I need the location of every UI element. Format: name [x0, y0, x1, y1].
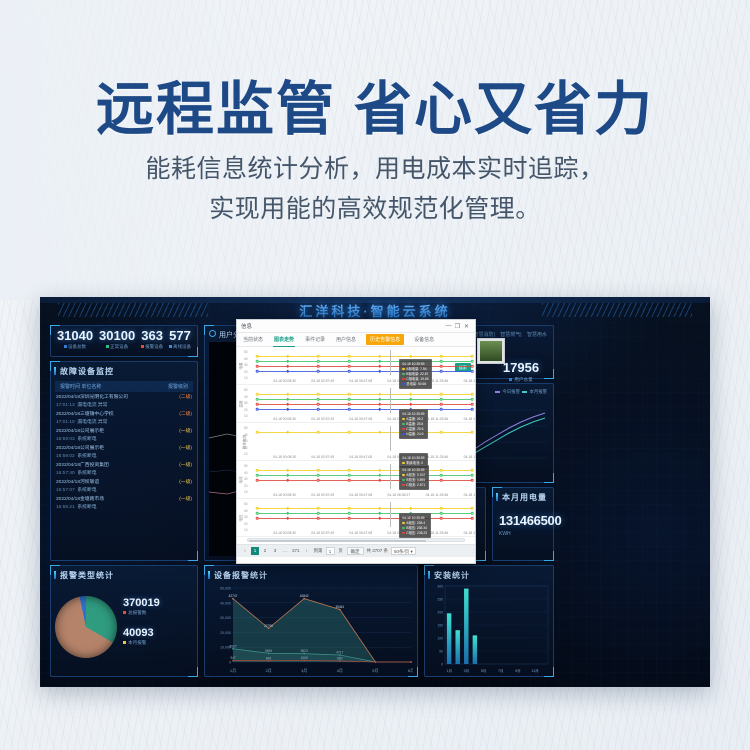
x-tick: 04-18 11:25:46 — [426, 417, 449, 421]
plot-area — [257, 426, 472, 451]
fault-detail: 16:57:40 系统断电 — [56, 469, 192, 476]
x-tick: 04-18 00:08:30 — [273, 417, 296, 421]
x-tick: 04-18 02:57:49 — [311, 417, 334, 421]
y-tick: 10 — [244, 490, 248, 494]
status-badge: (一级) — [179, 427, 192, 434]
svg-text:20,000: 20,000 — [220, 631, 231, 635]
tooltip-time: 04-18 10:35:59 — [402, 516, 427, 521]
svg-text:150: 150 — [437, 623, 443, 627]
svg-text:1月: 1月 — [230, 668, 236, 673]
tab-4[interactable]: 历史告警信息 — [366, 334, 404, 345]
chart-row-4[interactable]: 电压504030201004-18 00:08:3004-18 02:57:49… — [237, 499, 475, 537]
x-tick: 04-18 17:04:25 — [464, 531, 475, 535]
fault-detail: 16:59:02 系统断电 — [56, 452, 192, 459]
svg-text:3月: 3月 — [301, 668, 307, 673]
pagination-page-...[interactable]: ... — [281, 547, 289, 555]
y-tick: 20 — [244, 370, 248, 374]
device-alarm-chart: 010,00020,00030,00040,00050,000427472279… — [211, 582, 411, 672]
dashboard-title: 汇洋科技·智能云系统 — [299, 301, 450, 320]
svg-text:7月: 7月 — [498, 668, 504, 673]
table-row[interactable]: 2022/04/18金塘路市场(一级)16:55:21 系统断电 — [51, 494, 197, 511]
svg-text:6月: 6月 — [408, 668, 413, 673]
y-tick: 10 — [244, 376, 248, 380]
alarm-month-value: 40093 — [123, 627, 197, 639]
x-tick: 04-18 11:25:46 — [426, 455, 449, 459]
x-tick: 04-18 05:47:08 — [349, 417, 372, 421]
y-tick: 30 — [244, 515, 248, 519]
svg-text:50,000: 50,000 — [220, 587, 231, 591]
install-stat-chart: 0501001502002503001月3月5月7月9月11月 — [429, 582, 549, 673]
fault-time-name: 2022/04/18河坝联谊 — [56, 478, 99, 485]
x-tick: 04-18 00:08:30 — [273, 455, 296, 459]
dialog-titlebar[interactable]: 信息 — ❐ ✕ — [237, 320, 475, 333]
dialog-title: 信息 — [241, 322, 444, 330]
y-tick: 20 — [244, 522, 248, 526]
fault-time-name: 2022/04/18深圳光明化工有限公司 — [56, 393, 128, 400]
alarm-total-label: 总报警数 — [123, 610, 197, 616]
y-tick: 50 — [244, 426, 248, 430]
column-time-name: 报警时间 单位名称 — [60, 383, 154, 390]
fault-time-name: 2022/04/18公司展示柜 — [56, 427, 104, 434]
svg-text:1月: 1月 — [446, 668, 452, 673]
status-badge: (一级) — [179, 478, 192, 485]
x-tick: 04-18 00:08:30 — [273, 531, 296, 535]
chart-cursor — [390, 426, 391, 451]
chart-cursor — [390, 464, 391, 489]
y-tick: 40 — [244, 471, 248, 475]
status-badge: (一级) — [179, 461, 192, 468]
pagination-page-unit[interactable]: 页 — [337, 547, 345, 555]
column-level: 报警级别 — [154, 383, 188, 390]
chart-cursor — [390, 502, 391, 527]
subtitle-line-2: 实现用能的高效规范化管理。 — [0, 190, 750, 230]
y-tick: 40 — [244, 509, 248, 513]
svg-text:30,000: 30,000 — [220, 616, 231, 620]
chart-tooltip-1: 04-18 10:35:59A温度: 26.2B温度: 25.8C温度: 25.… — [399, 409, 428, 439]
month-power-panel: 本月用电量 131466500 KWH — [492, 487, 554, 561]
svg-text:1005: 1005 — [301, 656, 308, 660]
chart-row-0[interactable]: 电量504030201004-18 00:08:3004-18 02:57:49… — [237, 347, 475, 385]
stat-normal-devices: 30100 正常设备 — [99, 329, 135, 350]
y-tick: 50 — [244, 464, 248, 468]
stat-value: 577 — [169, 329, 191, 343]
x-tick: 04-18 02:57:49 — [311, 531, 334, 535]
table-row[interactable]: 2022/04/18公司展示柜(一级)16:59:03 系统断电 — [51, 426, 197, 443]
chart-tooltip-3: 04-18 10:35:59A相流: 0.102B相流: 0.895C相流: 2… — [399, 465, 429, 490]
stat-label: 报警设备 — [141, 344, 163, 350]
fault-panel-title: 故障设备监控 — [51, 362, 197, 379]
y-tick: 30 — [244, 363, 248, 367]
status-badge: (二级) — [179, 393, 192, 400]
page-subtitle: 能耗信息统计分析，用电成本实时追踪， 实现用能的高效规范化管理。 — [0, 150, 750, 229]
svg-text:0: 0 — [441, 662, 443, 666]
svg-text:50: 50 — [439, 649, 443, 653]
chart-row-3[interactable]: 电流504030201004-18 00:08:3004-18 02:57:49… — [237, 461, 475, 499]
table-row[interactable]: 2022/04/18广西投资集团(一级)16:57:40 系统断电 — [51, 460, 197, 477]
y-tick: 30 — [244, 401, 248, 405]
close-icon[interactable]: ✕ — [462, 323, 471, 330]
stats-strip-panel: 31040 设备总数 30100 正常设备 363 报警设备 577 离线设备 — [50, 325, 198, 357]
tooltip-time: 04-18 10:35:59 — [402, 456, 424, 461]
pagination-prev[interactable]: ‹ — [241, 547, 249, 555]
info-dialog[interactable]: 信息 — ❐ ✕ 当前状态图表走势事件记录用户信息历史告警信息设备信息 搜索 电… — [236, 319, 476, 564]
y-tick: 40 — [244, 395, 248, 399]
y-tick: 10 — [244, 528, 248, 532]
y-tick: 20 — [244, 484, 248, 488]
subtitle-line-1: 能耗信息统计分析，用电成本实时追踪， — [0, 150, 750, 190]
svg-text:22790: 22790 — [264, 624, 273, 628]
fault-device-panel: 故障设备监控 报警时间 单位名称 报警级别 2022/04/18深圳光明化工有限… — [50, 361, 198, 561]
svg-text:5623: 5623 — [301, 649, 308, 653]
device-alarm-stat-panel: 设备报警统计 010,00020,00030,00040,00050,00042… — [204, 565, 418, 677]
x-tick: 04-18 17:04:25 — [464, 417, 475, 421]
alarm-type-legend: 370019 总报警数 40093 本月报警 — [117, 597, 197, 657]
dialog-tabs[interactable]: 当前状态图表走势事件记录用户信息历史告警信息设备信息 — [237, 333, 475, 347]
pagination-goto-label[interactable]: 到第 — [313, 547, 324, 555]
fault-detail: 17:01:10 漏电电流 异常 — [56, 418, 192, 425]
fault-detail: 16:55:21 系统断电 — [56, 503, 192, 510]
stat-value: 31040 — [57, 329, 93, 343]
x-tick: 04-18 02:57:49 — [311, 493, 334, 497]
tab-5[interactable]: 设备信息 — [413, 333, 435, 346]
table-row[interactable]: 2022/04/18河坝联谊(一级)16:57:07 系统断电 — [51, 477, 197, 494]
pagination-page-2[interactable]: 2 — [261, 547, 269, 555]
stats-row: 31040 设备总数 30100 正常设备 363 报警设备 577 离线设备 — [51, 326, 197, 350]
fault-time-name: 2022/04/18金塘路市场 — [56, 495, 104, 502]
chart-cursor — [390, 388, 391, 413]
alarm-type-body: 370019 总报警数 40093 本月报警 — [51, 583, 197, 671]
stat-total-devices: 31040 设备总数 — [57, 329, 93, 350]
svg-text:9月: 9月 — [515, 668, 521, 673]
tooltip-row: 总电量: 50.66 — [402, 382, 428, 387]
plot-area — [257, 502, 472, 527]
svg-text:5月: 5月 — [481, 668, 487, 673]
y-tick: 30 — [244, 477, 248, 481]
x-tick: 04-18 05:47:08 — [349, 531, 372, 535]
svg-text:35461: 35461 — [335, 605, 344, 609]
x-tick: 04-18 17:04:25 — [464, 455, 475, 459]
tooltip-time: 04-18 10:35:59 — [402, 468, 425, 473]
svg-text:100: 100 — [437, 636, 443, 640]
install-stat-panel: 安装统计 0501001502002503001月3月5月7月9月11月 — [424, 565, 554, 677]
fault-time-name: 2022/04/18三塘镇中心学校 — [56, 410, 114, 417]
pagination-goto-input[interactable]: 1 — [326, 547, 335, 555]
y-tick: 10 — [244, 452, 248, 456]
svg-text:660: 660 — [337, 657, 343, 661]
alarm-month-label: 本月报警 — [123, 640, 197, 646]
alarm-type-panel: 报警类型统计 370019 总报警数 40093 本月报警 — [50, 565, 198, 677]
svg-text:0: 0 — [229, 661, 231, 665]
y-tick: 20 — [244, 446, 248, 450]
svg-text:250: 250 — [437, 597, 443, 601]
tab-2[interactable]: 事件记录 — [304, 333, 326, 346]
y-tick: 10 — [244, 414, 248, 418]
status-badge: (一级) — [179, 495, 192, 502]
x-tick: 04-18 02:57:49 — [311, 379, 334, 383]
install-stat-title: 安装统计 — [425, 566, 553, 583]
device-alarm-title: 设备报警统计 — [205, 566, 417, 583]
svg-text:4月: 4月 — [337, 668, 343, 673]
status-badge: (一级) — [179, 444, 192, 451]
stat-value: 363 — [141, 329, 163, 343]
x-tick: 04-18 00:08:30 — [273, 379, 296, 383]
chart-tooltip-0: 04-18 10:35:59A相电量: 7.94B相电量: 22.87C相电量:… — [399, 359, 432, 389]
y-tick: 40 — [244, 357, 248, 361]
tooltip-row: N温度: 24.9 — [402, 432, 424, 437]
svg-text:42747: 42747 — [229, 594, 238, 598]
svg-text:300: 300 — [437, 584, 443, 588]
y-tick: 30 — [244, 439, 248, 443]
horizontal-scrollbar[interactable] — [247, 538, 465, 542]
fault-time-name: 2022/04/18公司展示柜 — [56, 444, 104, 451]
fault-detail: 17:01:13 漏电电流 异常 — [56, 401, 192, 408]
alarm-type-title: 报警类型统计 — [51, 566, 197, 583]
plot-area — [257, 464, 472, 489]
pagination-total[interactable]: 共 3707 条 — [366, 547, 390, 555]
device-thumbnail — [477, 338, 505, 364]
chart-cursor — [390, 350, 391, 375]
area-chart-svg: 010,00020,00030,00040,00050,000427472279… — [211, 582, 413, 674]
svg-text:5894: 5894 — [265, 649, 272, 653]
page-title: 远程监管 省心又省力 — [0, 62, 750, 146]
plot-area — [257, 388, 472, 413]
month-power-unit: KWH — [493, 531, 553, 537]
fault-detail: 16:57:07 系统断电 — [56, 486, 192, 493]
pagination-page-371[interactable]: 371 — [291, 547, 301, 555]
table-row[interactable]: 2022/04/18深圳光明化工有限公司(二级)17:01:13 漏电电流 异常 — [51, 392, 197, 409]
plot-area — [257, 350, 472, 375]
x-tick: 04-18 17:04:25 — [464, 379, 475, 383]
dialog-pagination[interactable]: ‹123...371›到第1页确定共 3707 条50条/页 ▾ — [237, 544, 475, 557]
x-tick: 04-18 05:47:08 — [349, 493, 372, 497]
stat-offline-devices: 577 离线设备 — [169, 329, 191, 350]
stat-label: 离线设备 — [169, 344, 191, 350]
pagination-page-3[interactable]: 3 — [271, 547, 279, 555]
stat-label: 正常设备 — [99, 344, 135, 350]
svg-text:842: 842 — [266, 656, 272, 660]
bar-chart-svg: 0501001502002503001月3月5月7月9月11月 — [429, 582, 551, 675]
svg-text:40,000: 40,000 — [220, 601, 231, 605]
fault-time-name: 2022/04/18广西投资集团 — [56, 461, 109, 468]
pagination-page-size-select[interactable]: 50条/页 ▾ — [391, 547, 416, 555]
y-tick: 50 — [244, 502, 248, 506]
svg-text:5月: 5月 — [372, 668, 378, 673]
y-tick: 50 — [244, 350, 248, 354]
hero-section: 远程监管 省心又省力 能耗信息统计分析，用电成本实时追踪， 实现用能的高效规范化… — [0, 0, 750, 290]
chart-tooltip-4: 04-18 10:35:59A相压: 238.4B相压: 238.34C相压: … — [399, 513, 431, 538]
x-tick: 04-18 00:08:30 — [273, 493, 296, 497]
svg-text:3月: 3月 — [464, 668, 470, 673]
maximize-icon[interactable]: ❐ — [453, 323, 462, 330]
dialog-chart-body[interactable]: 搜索 电量504030201004-18 00:08:3004-18 02:57… — [237, 347, 475, 544]
svg-text:200: 200 — [437, 610, 443, 614]
fault-table-header: 报警时间 单位名称 报警级别 — [55, 381, 193, 392]
fault-detail: 16:59:03 系统断电 — [56, 435, 192, 442]
chart-row-2[interactable]: 剩余电流504030201004-18 00:08:3004-18 02:57:… — [237, 423, 475, 461]
y-tick: 40 — [244, 433, 248, 437]
pagination-page-1[interactable]: 1 — [251, 547, 259, 555]
tab-0[interactable]: 当前状态 — [242, 333, 264, 346]
pagination-next[interactable]: › — [303, 547, 311, 555]
stat-value: 30100 — [99, 329, 135, 343]
svg-text:2月: 2月 — [265, 668, 271, 673]
chart-row-1[interactable]: 温度504030201004-18 00:08:3004-18 02:57:49… — [237, 385, 475, 423]
globe-icon — [209, 330, 216, 337]
fault-table-body[interactable]: 2022/04/18深圳光明化工有限公司(二级)17:01:13 漏电电流 异常… — [51, 392, 197, 511]
x-tick: 04-18 05:47:08 — [349, 455, 372, 459]
table-row[interactable]: 2022/04/18三塘镇中心学校(二级)17:01:10 漏电电流 异常 — [51, 409, 197, 426]
month-power-value: 131466500 — [493, 513, 553, 528]
x-tick: 04-18 11:25:46 — [426, 493, 449, 497]
status-badge: (二级) — [179, 410, 192, 417]
month-power-title: 本月用电量 — [493, 488, 553, 505]
tooltip-row: C相压: 238.23 — [402, 531, 427, 536]
stat-label: 设备总数 — [57, 344, 93, 350]
y-tick: 20 — [244, 408, 248, 412]
x-tick: 04-18 08:36:27 — [387, 493, 410, 497]
tooltip-row: C相流: 2.671 — [402, 483, 425, 488]
tooltip-time: 04-18 10:35:59 — [402, 412, 424, 417]
svg-text:42842: 42842 — [300, 594, 309, 598]
tab-3[interactable]: 用户信息 — [335, 333, 357, 346]
x-tick: 04-18 02:57:49 — [311, 455, 334, 459]
svg-text:947: 947 — [230, 656, 236, 660]
pagination-confirm-button[interactable]: 确定 — [347, 547, 364, 555]
y-tick: 50 — [244, 388, 248, 392]
tab-1[interactable]: 图表走势 — [273, 333, 295, 347]
alarm-type-pie-chart — [55, 596, 117, 658]
x-tick: 04-18 05:47:08 — [349, 379, 372, 383]
stat-alarm-devices: 363 报警设备 — [141, 329, 163, 350]
tooltip-time: 04-18 10:35:59 — [402, 362, 428, 367]
svg-text:11月: 11月 — [531, 668, 538, 673]
svg-text:8927: 8927 — [229, 644, 236, 648]
svg-text:4717: 4717 — [336, 651, 343, 655]
minimize-icon[interactable]: — — [444, 323, 453, 329]
alarm-total-value: 370019 — [123, 597, 197, 609]
x-tick: 04-18 17:04:25 — [464, 493, 475, 497]
table-row[interactable]: 2022/04/18公司展示柜(一级)16:59:02 系统断电 — [51, 443, 197, 460]
dashboard-screenshot: 汇洋科技·智能云系统 31040 设备总数 30100 正常设备 363 报警设… — [40, 297, 710, 687]
